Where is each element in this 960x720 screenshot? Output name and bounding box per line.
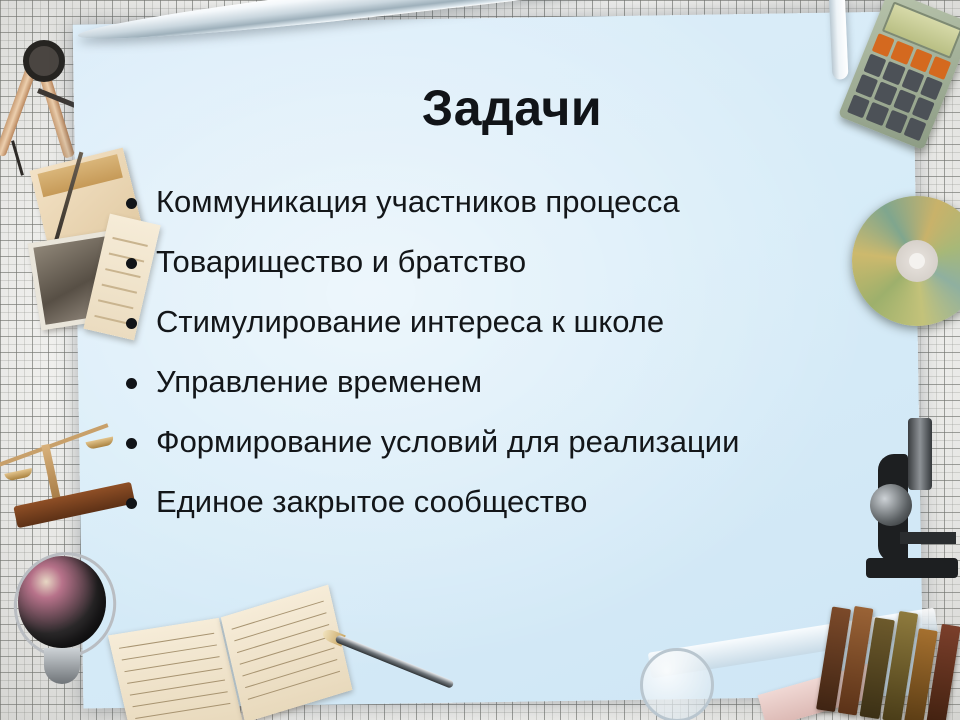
page-title: Задачи	[0, 82, 960, 135]
bullet-dot-icon	[126, 198, 137, 209]
bullet-list: Коммуникация участников процесса Товарищ…	[124, 172, 914, 532]
list-item-label: Коммуникация участников процесса	[156, 184, 680, 219]
presentation-slide: Задачи Коммуникация участников процесса …	[0, 0, 960, 720]
bullet-dot-icon	[126, 378, 137, 389]
bullet-dot-icon	[126, 498, 137, 509]
list-item: Формирование условий для реализации	[124, 412, 914, 472]
list-item-label: Единое закрытое сообщество	[156, 484, 587, 519]
list-item: Управление временем	[124, 352, 914, 412]
list-item-label: Товарищество и братство	[156, 244, 526, 279]
list-item-label: Управление временем	[156, 364, 482, 399]
bullet-dot-icon	[126, 258, 137, 269]
list-item: Стимулирование интереса к школе	[124, 292, 914, 352]
list-item: Единое закрытое сообщество	[124, 472, 914, 532]
bullet-dot-icon	[126, 438, 137, 449]
bullet-dot-icon	[126, 318, 137, 329]
list-item-label: Формирование условий для реализации	[156, 424, 739, 459]
list-item: Коммуникация участников процесса	[124, 172, 914, 232]
list-item: Товарищество и братство	[124, 232, 914, 292]
list-item-label: Стимулирование интереса к школе	[156, 304, 664, 339]
